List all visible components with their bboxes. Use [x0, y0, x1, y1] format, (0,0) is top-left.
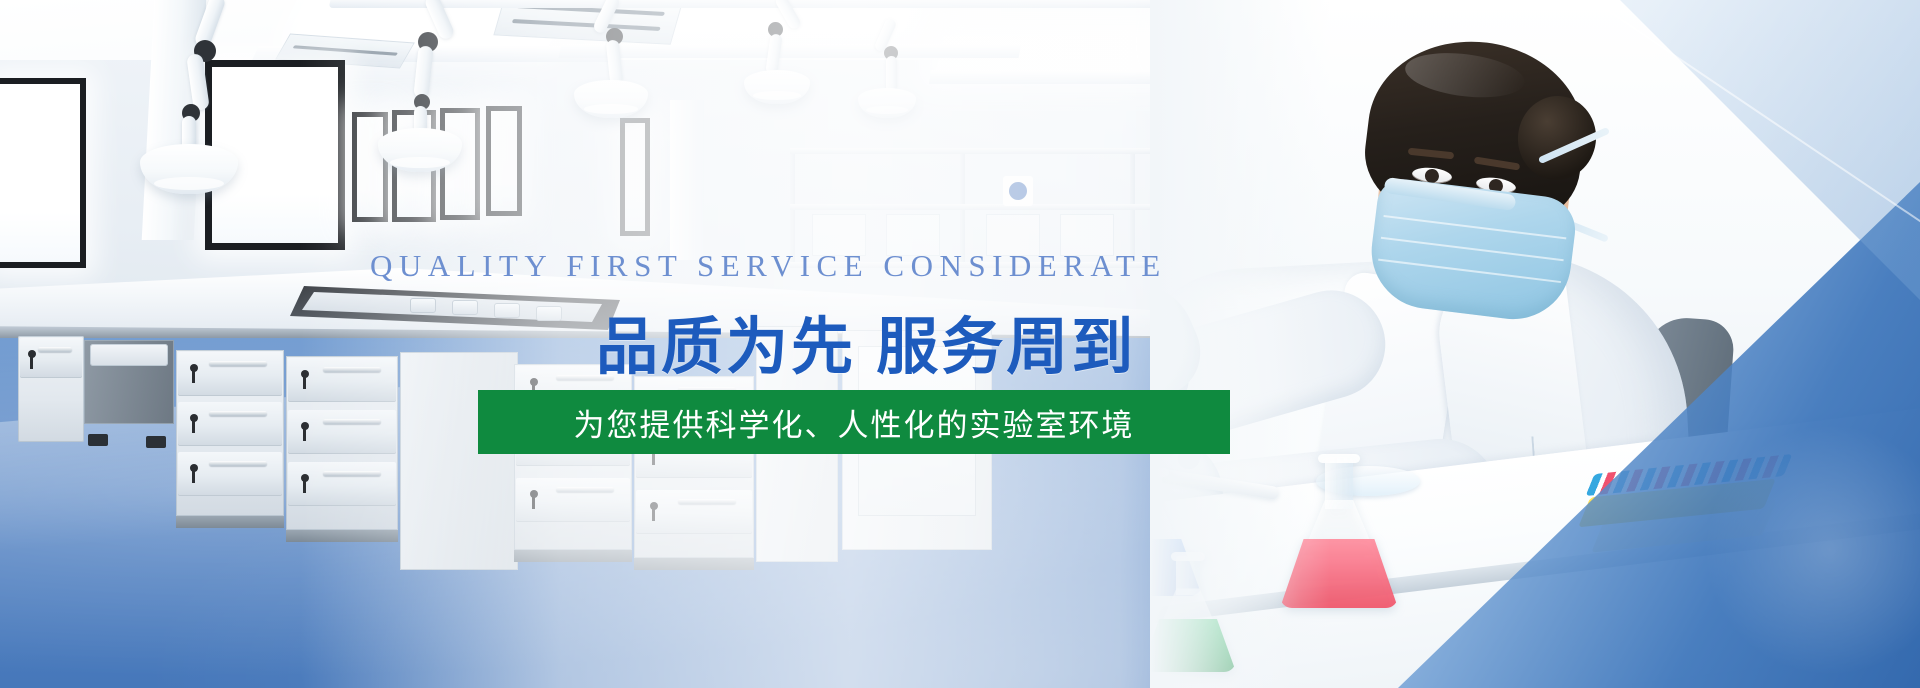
banner-subtitle-bar: 为您提供科学化、人性化的实验室环境 — [478, 390, 1230, 454]
banner-headline: 品质为先 服务周到 — [596, 296, 1136, 386]
banner-subtitle-text: 为您提供科学化、人性化的实验室环境 — [574, 400, 1135, 445]
hero-banner: QUALITY FIRST SERVICE CONSIDERATE 品质为先 服… — [0, 0, 1920, 688]
banner-text-block: QUALITY FIRST SERVICE CONSIDERATE 品质为先 服… — [0, 0, 1920, 688]
banner-eyebrow-text: QUALITY FIRST SERVICE CONSIDERATE — [370, 248, 1280, 284]
